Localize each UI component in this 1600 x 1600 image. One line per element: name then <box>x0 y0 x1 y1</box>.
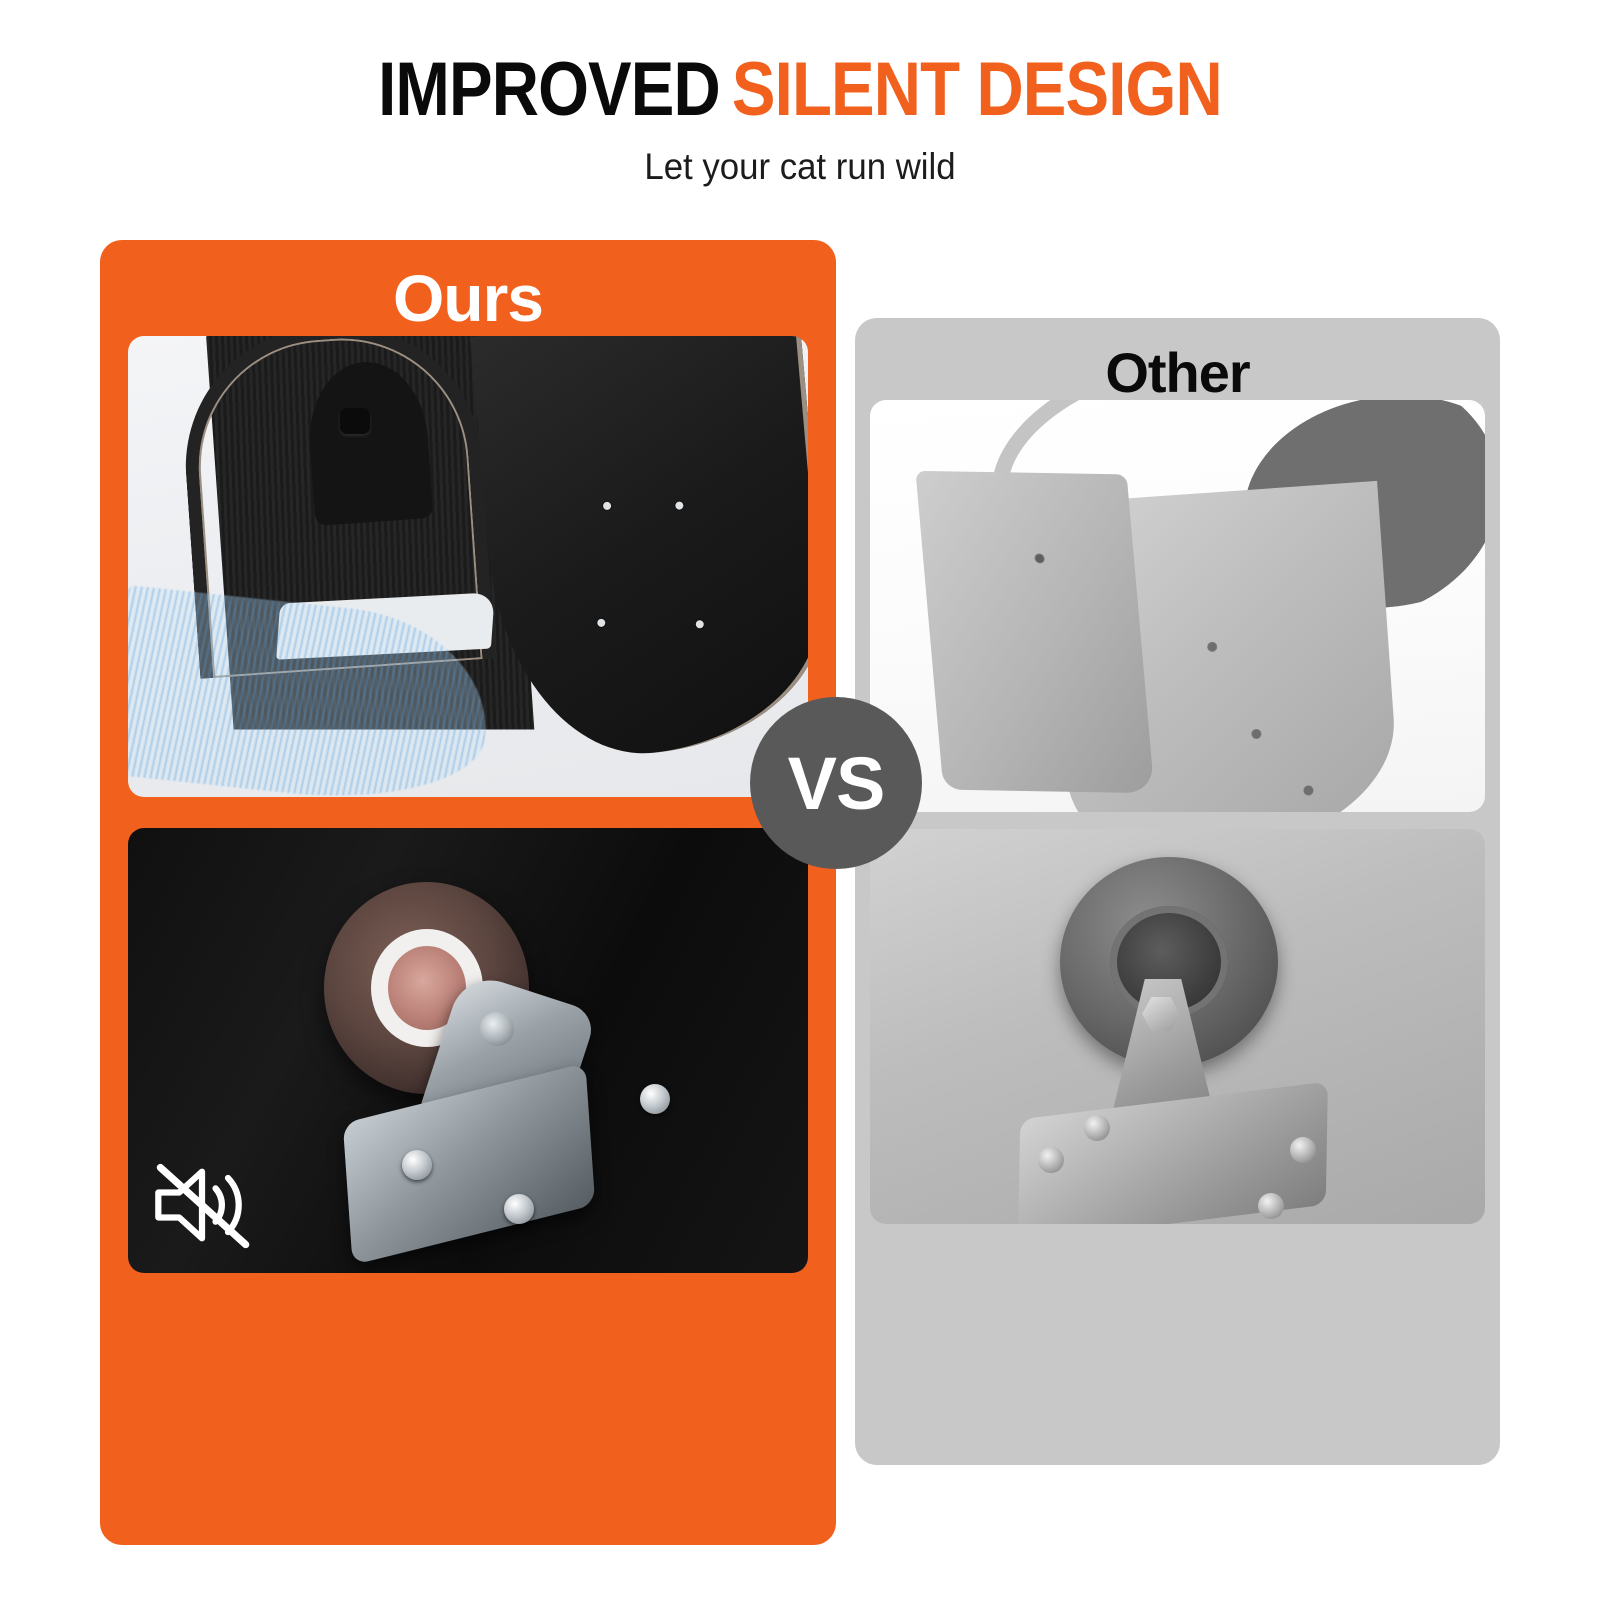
title-dark-part: IMPROVED <box>378 47 720 132</box>
screw-dot <box>603 502 612 511</box>
caster-axle <box>480 1012 514 1046</box>
wheel-knob <box>340 408 370 434</box>
ours-heading: Ours <box>100 240 836 336</box>
caster-screw <box>504 1194 534 1224</box>
other-screw <box>1084 1115 1110 1141</box>
screw-dot <box>1304 786 1313 795</box>
caster-mount-plate <box>343 1063 595 1265</box>
screw-dot <box>1252 730 1261 739</box>
silent-roller-photo <box>128 828 808 1273</box>
other-heading: Other <box>855 318 1500 405</box>
screw-dot <box>675 501 684 510</box>
other-base-photo <box>870 400 1485 812</box>
page-title: IMPROVEDSILENT DESIGN <box>112 0 1488 128</box>
other-front-panel <box>915 471 1154 793</box>
screw-dot <box>597 619 606 628</box>
screw-dot <box>1035 554 1044 562</box>
caster-screw <box>402 1150 432 1180</box>
other-screw <box>1038 1147 1064 1173</box>
title-accent-part: SILENT DESIGN <box>732 47 1222 132</box>
other-screw <box>1258 1193 1284 1219</box>
other-roller-photo <box>870 829 1485 1224</box>
caster-screw <box>640 1084 670 1114</box>
header: IMPROVEDSILENT DESIGN Let your cat run w… <box>0 0 1600 232</box>
noise-reduction-vent-photo <box>128 336 808 797</box>
screw-dot <box>1208 643 1217 652</box>
vs-badge: VS <box>750 697 922 869</box>
page-subtitle: Let your cat run wild <box>48 128 1552 188</box>
screw-dot <box>695 620 704 629</box>
other-screw <box>1290 1137 1316 1163</box>
mute-icon <box>150 1159 254 1251</box>
